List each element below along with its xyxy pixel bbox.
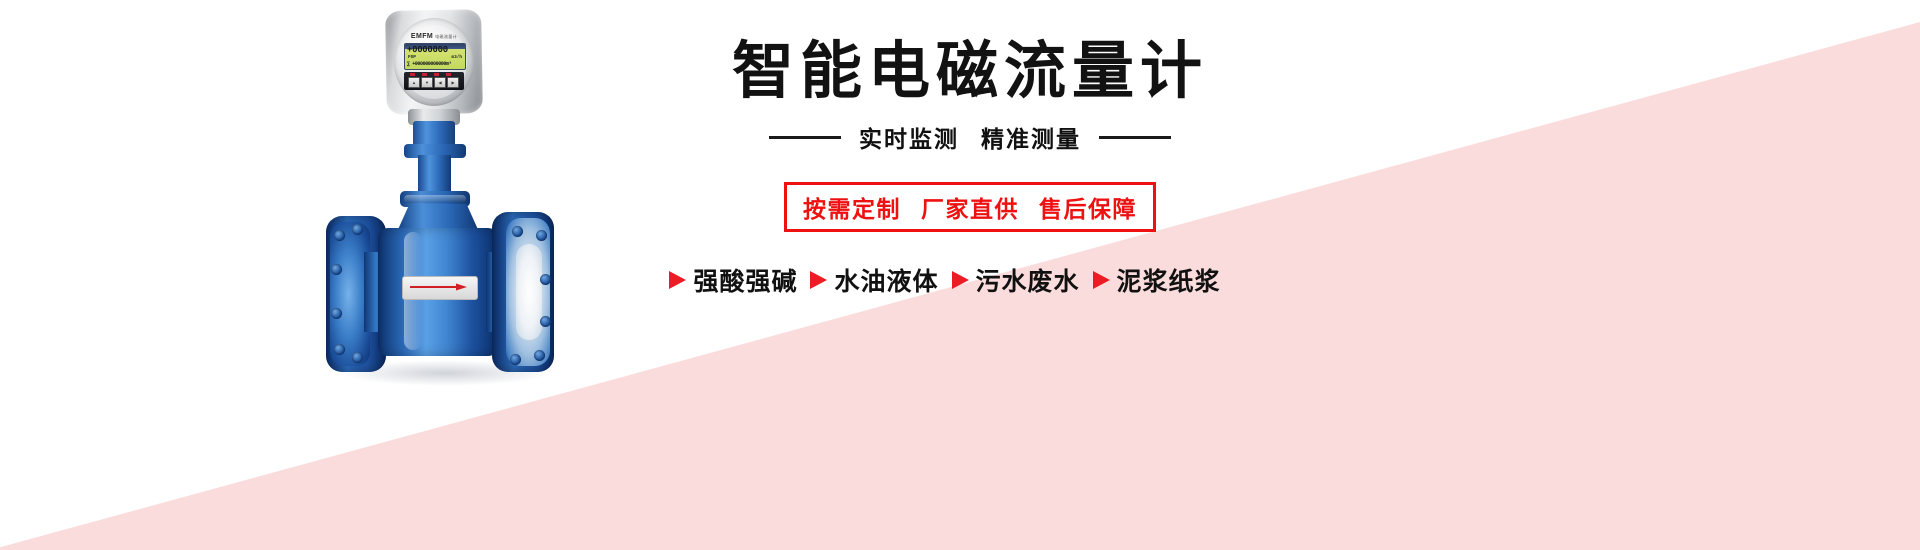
- keypad-button-up[interactable]: ▲: [408, 77, 420, 88]
- badge-item-1: 按需定制: [803, 196, 901, 222]
- neck-flange-ring: [404, 195, 466, 203]
- keypad-button-right[interactable]: ▶: [447, 77, 459, 88]
- guarantee-badge: 按需定制厂家直供售后保障: [784, 182, 1156, 232]
- feature-item-2: 水油液体: [810, 262, 938, 298]
- feature-label: 水油液体: [834, 262, 938, 298]
- brand-subtext: 电磁流量计: [435, 34, 457, 39]
- keypad-button-left[interactable]: ◀: [434, 77, 446, 88]
- feature-label: 污水废水: [976, 262, 1080, 298]
- feature-item-4: 泥浆纸浆: [1093, 262, 1221, 298]
- guarantee-badge-text: 按需定制厂家直供售后保障: [803, 190, 1137, 224]
- subtitle-row: 实时监测精准测量: [660, 120, 1280, 154]
- banner-copy: 智能电磁流量计 实时监测精准测量 按需定制厂家直供售后保障 强酸强碱 水油液体 …: [660, 36, 1280, 298]
- lcd-totalizer: ∑ +000000000000m³: [407, 61, 463, 68]
- feature-item-3: 污水废水: [952, 262, 1080, 298]
- subtitle-right: 精准测量: [981, 126, 1081, 152]
- flange-bolt: [331, 264, 342, 275]
- transmitter-brand-label: EMFM电磁流量计: [406, 32, 462, 42]
- flange-bolt: [512, 226, 523, 237]
- flange-bolt: [352, 224, 363, 235]
- subtitle-rule-right: [1099, 136, 1171, 139]
- page-title: 智能电磁流量计: [660, 36, 1280, 108]
- subtitle-left: 实时监测: [859, 126, 959, 152]
- flange-bolt: [540, 316, 551, 327]
- badge-item-2: 厂家直供: [921, 196, 1019, 222]
- product-banner: EMFM电磁流量计 +0000000 FGP m3/h ∑ +000000000…: [0, 0, 1920, 550]
- electromagnetic-flowmeter-illustration: EMFM电磁流量计 +0000000 FGP m3/h ∑ +000000000…: [300, 8, 630, 398]
- triangle-right-icon: [952, 271, 969, 289]
- flange-bolt: [534, 350, 545, 361]
- subtitle-text: 实时监测精准测量: [859, 120, 1081, 154]
- feature-label: 强酸强碱: [693, 262, 797, 298]
- flange-bolt: [331, 308, 342, 319]
- triangle-right-icon: [669, 271, 686, 289]
- flow-direction-arrow-icon: [410, 283, 468, 291]
- flange-bolt: [352, 352, 363, 363]
- flange-bolt: [540, 274, 551, 285]
- flange-bolt: [334, 344, 345, 355]
- keypad-indicator-leds: [410, 73, 458, 76]
- feature-item-1: 强酸强碱: [669, 262, 797, 298]
- ground-shadow: [340, 360, 550, 386]
- feature-list: 强酸强碱 水油液体 污水废水 泥浆纸浆: [610, 262, 1280, 298]
- keypad-button-down[interactable]: ▼: [421, 77, 433, 88]
- right-flange-bore: [516, 244, 542, 340]
- brand-text: EMFM: [411, 33, 433, 40]
- lcd-main-value: +0000000: [407, 45, 463, 55]
- badge-item-3: 售后保障: [1039, 196, 1137, 222]
- triangle-right-icon: [810, 271, 827, 289]
- lcd-display: +0000000 FGP m3/h ∑ +000000000000m³: [404, 43, 466, 70]
- flange-bolt: [334, 230, 345, 241]
- subtitle-rule-left: [769, 136, 841, 139]
- feature-label: 泥浆纸浆: [1117, 262, 1221, 298]
- flange-bolt: [536, 230, 547, 241]
- neck-tube: [418, 155, 451, 195]
- transmitter-keypad: ▲ ▼ ◀ ▶: [404, 72, 464, 90]
- triangle-right-icon: [1093, 271, 1110, 289]
